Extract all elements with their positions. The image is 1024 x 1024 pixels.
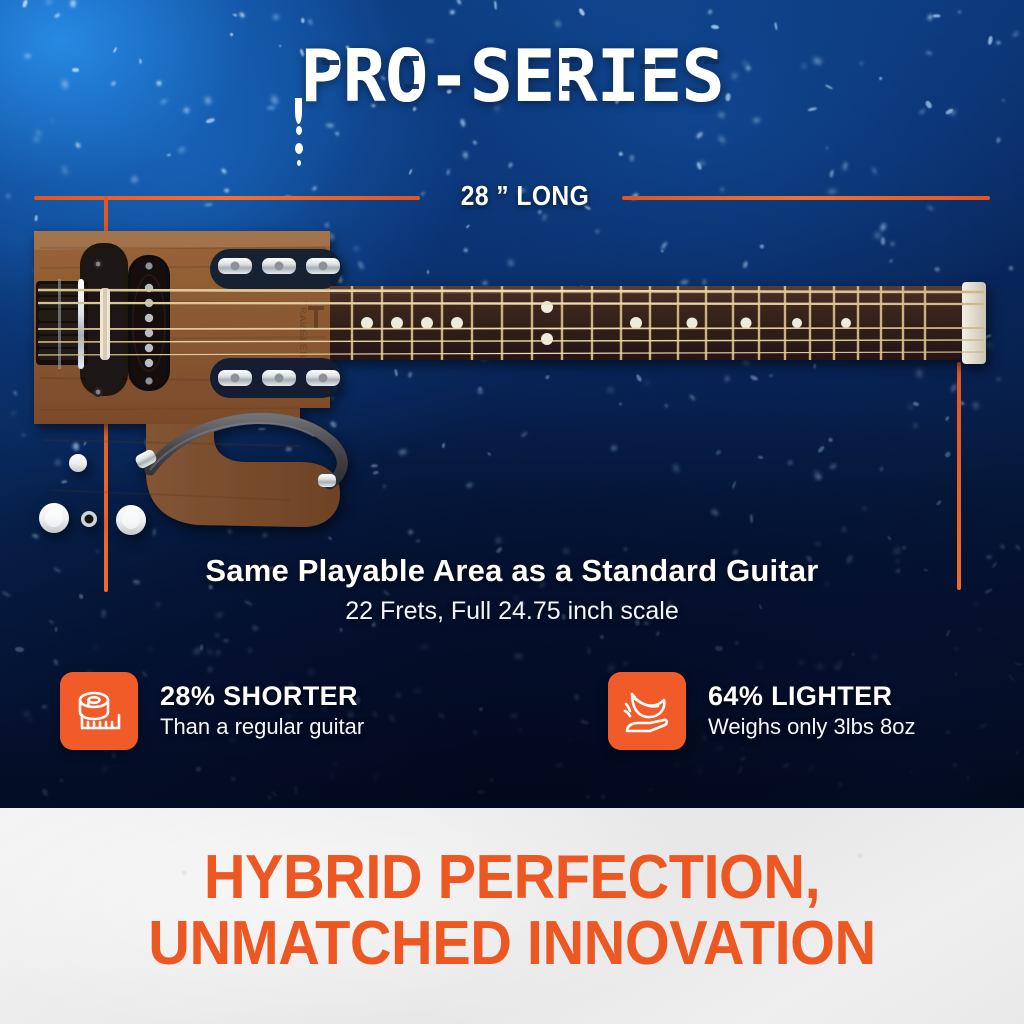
feature-shorter: 28% SHORTER Than a regular guitar [60,672,364,750]
tagline: HYBRID PERFECTION, UNMATCHED INNOVATION [36,845,988,976]
feature-subtitle: Weighs only 3lbs 8oz [708,713,916,742]
feather-in-hand-icon [608,672,686,750]
tape-measure-icon [60,672,138,750]
feature-lighter: 64% LIGHTER Weighs only 3lbs 8oz [608,672,916,750]
feature-title: 64% LIGHTER [708,681,916,711]
infographic-canvas: PRO-SERIES 28 ” LONG [0,0,1024,1024]
tagline-line-2: UNMATCHED INNOVATION [36,911,988,977]
headline-main: Same Playable Area as a Standard Guitar [0,553,1024,589]
tagline-line-1: HYBRID PERFECTION, [36,845,988,911]
feature-subtitle: Than a regular guitar [160,713,364,742]
feature-title: 28% SHORTER [160,681,364,711]
headline-sub: 22 Frets, Full 24.75 inch scale [0,597,1024,626]
guitar-product-image: TRAVELER GUITAR [0,0,1024,600]
